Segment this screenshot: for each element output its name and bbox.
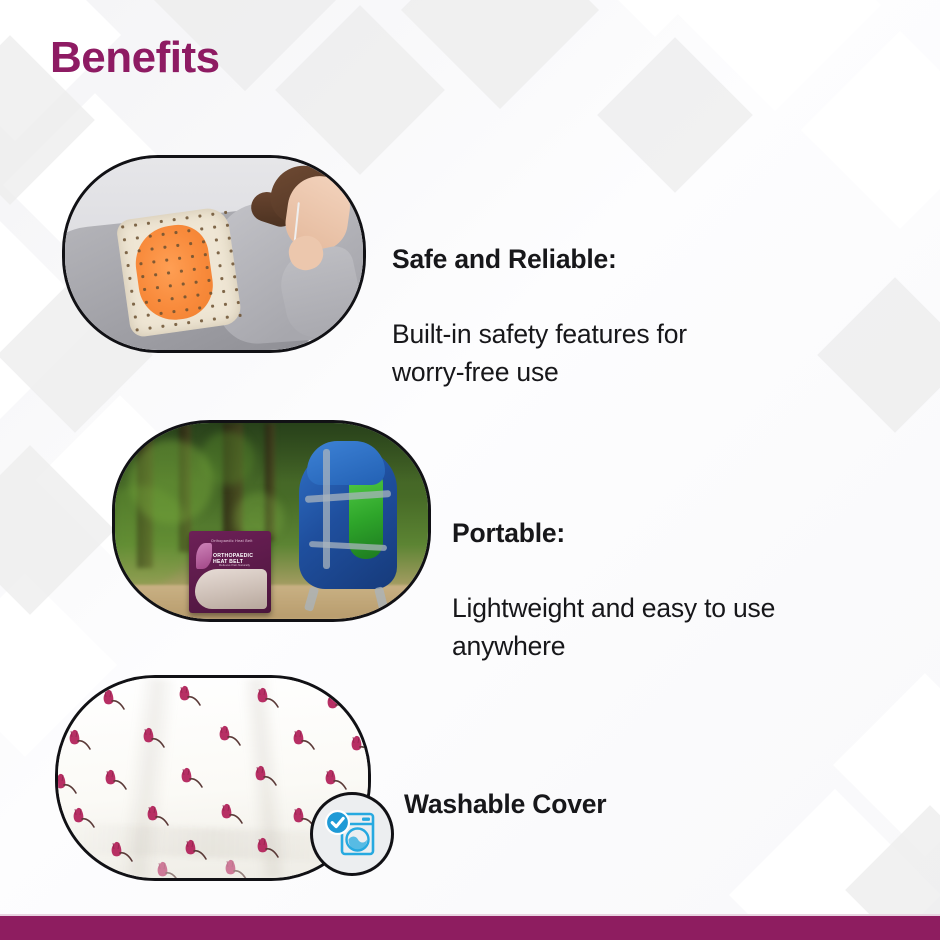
page-title: Benefits [50,36,220,80]
footer-accent-bar [0,916,940,940]
benefit-description-safe-and-reliable: Built-in safety features for worry-free … [392,316,862,391]
infographic-page: Benefits Safe and Reliable: Built-in saf… [0,0,940,940]
benefit-image-safe-and-reliable [62,155,366,353]
product-box: Orthopaedic Heat Belt ORTHOPAEDIC HEAT B… [189,531,271,613]
backpack-in-forest-photo: Orthopaedic Heat Belt ORTHOPAEDIC HEAT B… [115,423,428,619]
benefit-text-safe-and-reliable: Safe and Reliable: Built-in safety featu… [392,203,862,429]
benefit-lead-safe-and-reliable: Safe and Reliable: [392,241,862,279]
woman-lying-with-heat-belt-photo [65,158,363,350]
benefit-text-portable: Portable: Lightweight and easy to use an… [452,477,912,703]
hiking-backpack [293,441,413,609]
benefit-description-portable: Lightweight and easy to use anywhere [452,590,912,665]
check-circle-icon [326,811,349,834]
benefit-lead-portable: Portable: [452,515,912,553]
machine-washable-badge [310,792,394,876]
benefit-image-portable: Orthopaedic Heat Belt ORTHOPAEDIC HEAT B… [112,420,431,622]
washing-machine-icon [324,806,380,862]
product-box-kicker: Orthopaedic Heat Belt [211,539,269,543]
benefit-text-washable-cover: Washable Cover [404,748,824,861]
product-box-subtitle: Relieves Pain Naturally [219,563,250,567]
benefit-lead-washable-cover: Washable Cover [404,786,824,824]
